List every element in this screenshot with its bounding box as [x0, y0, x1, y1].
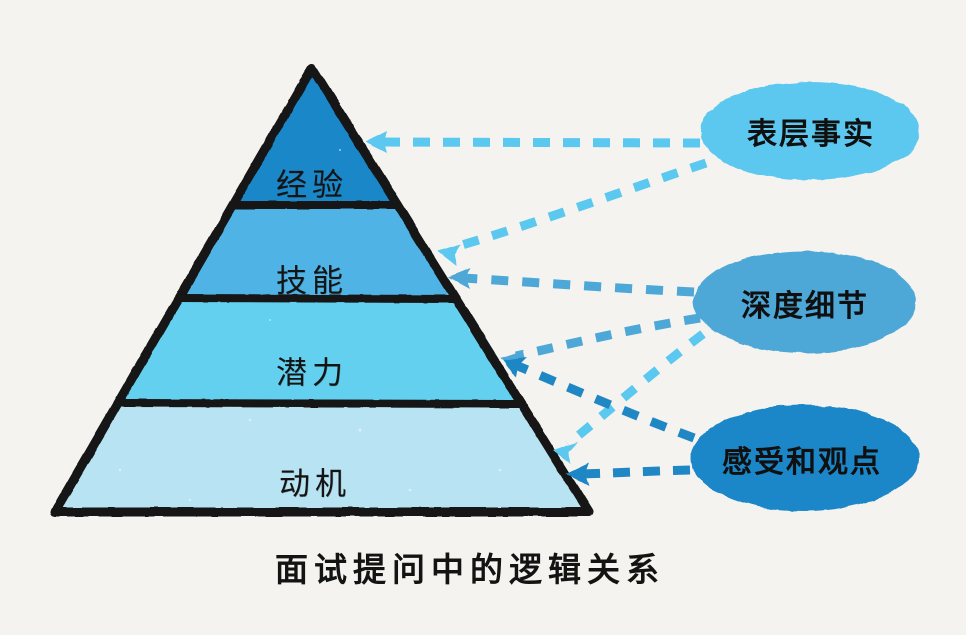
arrow-feelings-to-motivation [566, 463, 690, 486]
callout-shapes [691, 82, 920, 511]
arrow-surface-to-skill [437, 163, 706, 266]
arrow-deep-to-skill [448, 268, 694, 292]
callout-ellipse-deep-details[interactable] [694, 251, 916, 353]
pyramid-tier-fills [40, 60, 610, 519]
arrow-deep-to-motivation [553, 334, 703, 464]
arrow-surface-to-experience [365, 131, 700, 153]
callout-ellipse-surface-facts[interactable] [700, 82, 920, 180]
pyramid-diagram-svg [0, 0, 966, 635]
arrow-deep-to-potential [500, 318, 700, 372]
divider-skill-potential [170, 298, 459, 299]
divider-potential-motivation [106, 403, 523, 404]
diagram-canvas: 经验 技能 潜力 动机 表层事实 深度细节 感受和观点 面试提问中的逻辑关系 [0, 0, 966, 635]
tier-fill-motivation [40, 404, 610, 519]
callout-ellipse-feelings-opinions[interactable] [691, 405, 919, 511]
